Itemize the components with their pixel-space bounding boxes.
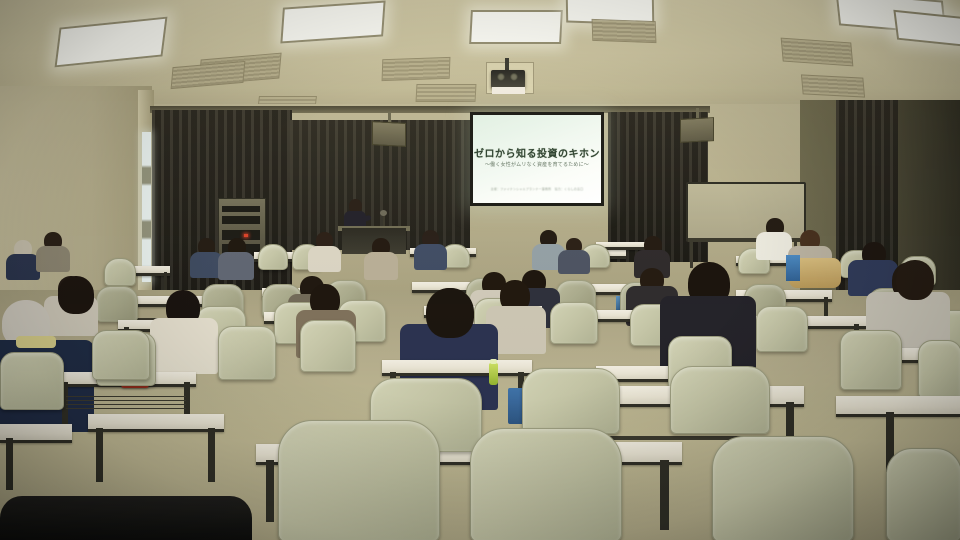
projector (491, 70, 525, 88)
attendee-torso (6, 254, 40, 280)
bottle-cap (490, 359, 497, 364)
ceiling-light-panel (469, 10, 563, 44)
chair (712, 436, 854, 540)
chair (756, 306, 808, 352)
av-rack-led-icon (244, 234, 248, 237)
attendee-torso (36, 246, 70, 272)
wall-speaker-right (680, 117, 714, 143)
desk-leg (208, 428, 215, 482)
chair (470, 428, 622, 540)
desk-basket (66, 396, 186, 410)
slide-footnote: 主催：ファイナンシャルプランナー事務所 協力：くらしの窓口 (473, 187, 601, 191)
chair (918, 340, 960, 398)
ceiling-light-panel (280, 0, 385, 43)
ceiling-vent (592, 19, 657, 43)
projector-base-plate (492, 87, 525, 94)
attendee-torso (308, 246, 341, 272)
projector-lens-icon (497, 73, 505, 81)
chair (218, 326, 276, 380)
slide-title: ゼロから知る投資のキホン (473, 145, 601, 160)
slide-content: ゼロから知る投資のキホン ～働く女性がムリなく資産を育てるために～ 主催：ファイ… (473, 115, 601, 203)
av-rack-slot (222, 216, 260, 224)
attendee-torso (558, 250, 590, 274)
whiteboard-leg (690, 240, 693, 268)
microphone-icon (380, 210, 387, 216)
chair (278, 420, 440, 540)
chair (840, 330, 902, 390)
chair (258, 244, 288, 270)
desk-leg (266, 460, 274, 522)
av-rack-slot (222, 206, 260, 212)
desk-leg (164, 272, 167, 290)
attendee-torso (414, 244, 447, 270)
attendee-head (426, 288, 474, 338)
wall-speaker-left (372, 121, 406, 147)
ceiling-vent (416, 84, 477, 102)
chair (886, 448, 960, 540)
water-bottle-green (489, 363, 498, 385)
attendee-torso (150, 318, 218, 374)
ceiling-vent (382, 57, 451, 81)
projector-lens-icon (510, 73, 518, 81)
chair (104, 258, 136, 286)
chair (522, 368, 620, 434)
attendee-torso (218, 252, 254, 280)
desk-leg (660, 460, 669, 530)
chair (550, 302, 598, 344)
foreground-coat (0, 496, 252, 540)
ceiling-vent (801, 74, 865, 97)
chair (96, 286, 138, 322)
attendee-scarf (16, 336, 56, 348)
desk-leg (96, 428, 103, 482)
blue-folder (786, 255, 800, 281)
projection-screen: ゼロから知る投資のキホン ～働く女性がムリなく資産を育てるために～ 主催：ファイ… (470, 112, 604, 206)
chair (0, 352, 64, 410)
chair (670, 366, 770, 434)
desk-leg (6, 438, 13, 490)
chair (92, 330, 150, 380)
wall-light-strip (142, 132, 151, 282)
ceiling-vent (781, 38, 854, 67)
desk (88, 414, 224, 432)
attendee-torso (364, 252, 398, 280)
desk (836, 396, 960, 417)
slide-subtitle: ～働く女性がムリなく資産を育てるために～ (473, 161, 601, 168)
seminar-room-photo: ゼロから知る投資のキホン ～働く女性がムリなく資産を育てるために～ 主催：ファイ… (0, 0, 960, 540)
attendee-head (896, 260, 934, 300)
chair (300, 320, 356, 372)
desk (382, 360, 532, 376)
attendee-head (58, 276, 94, 314)
